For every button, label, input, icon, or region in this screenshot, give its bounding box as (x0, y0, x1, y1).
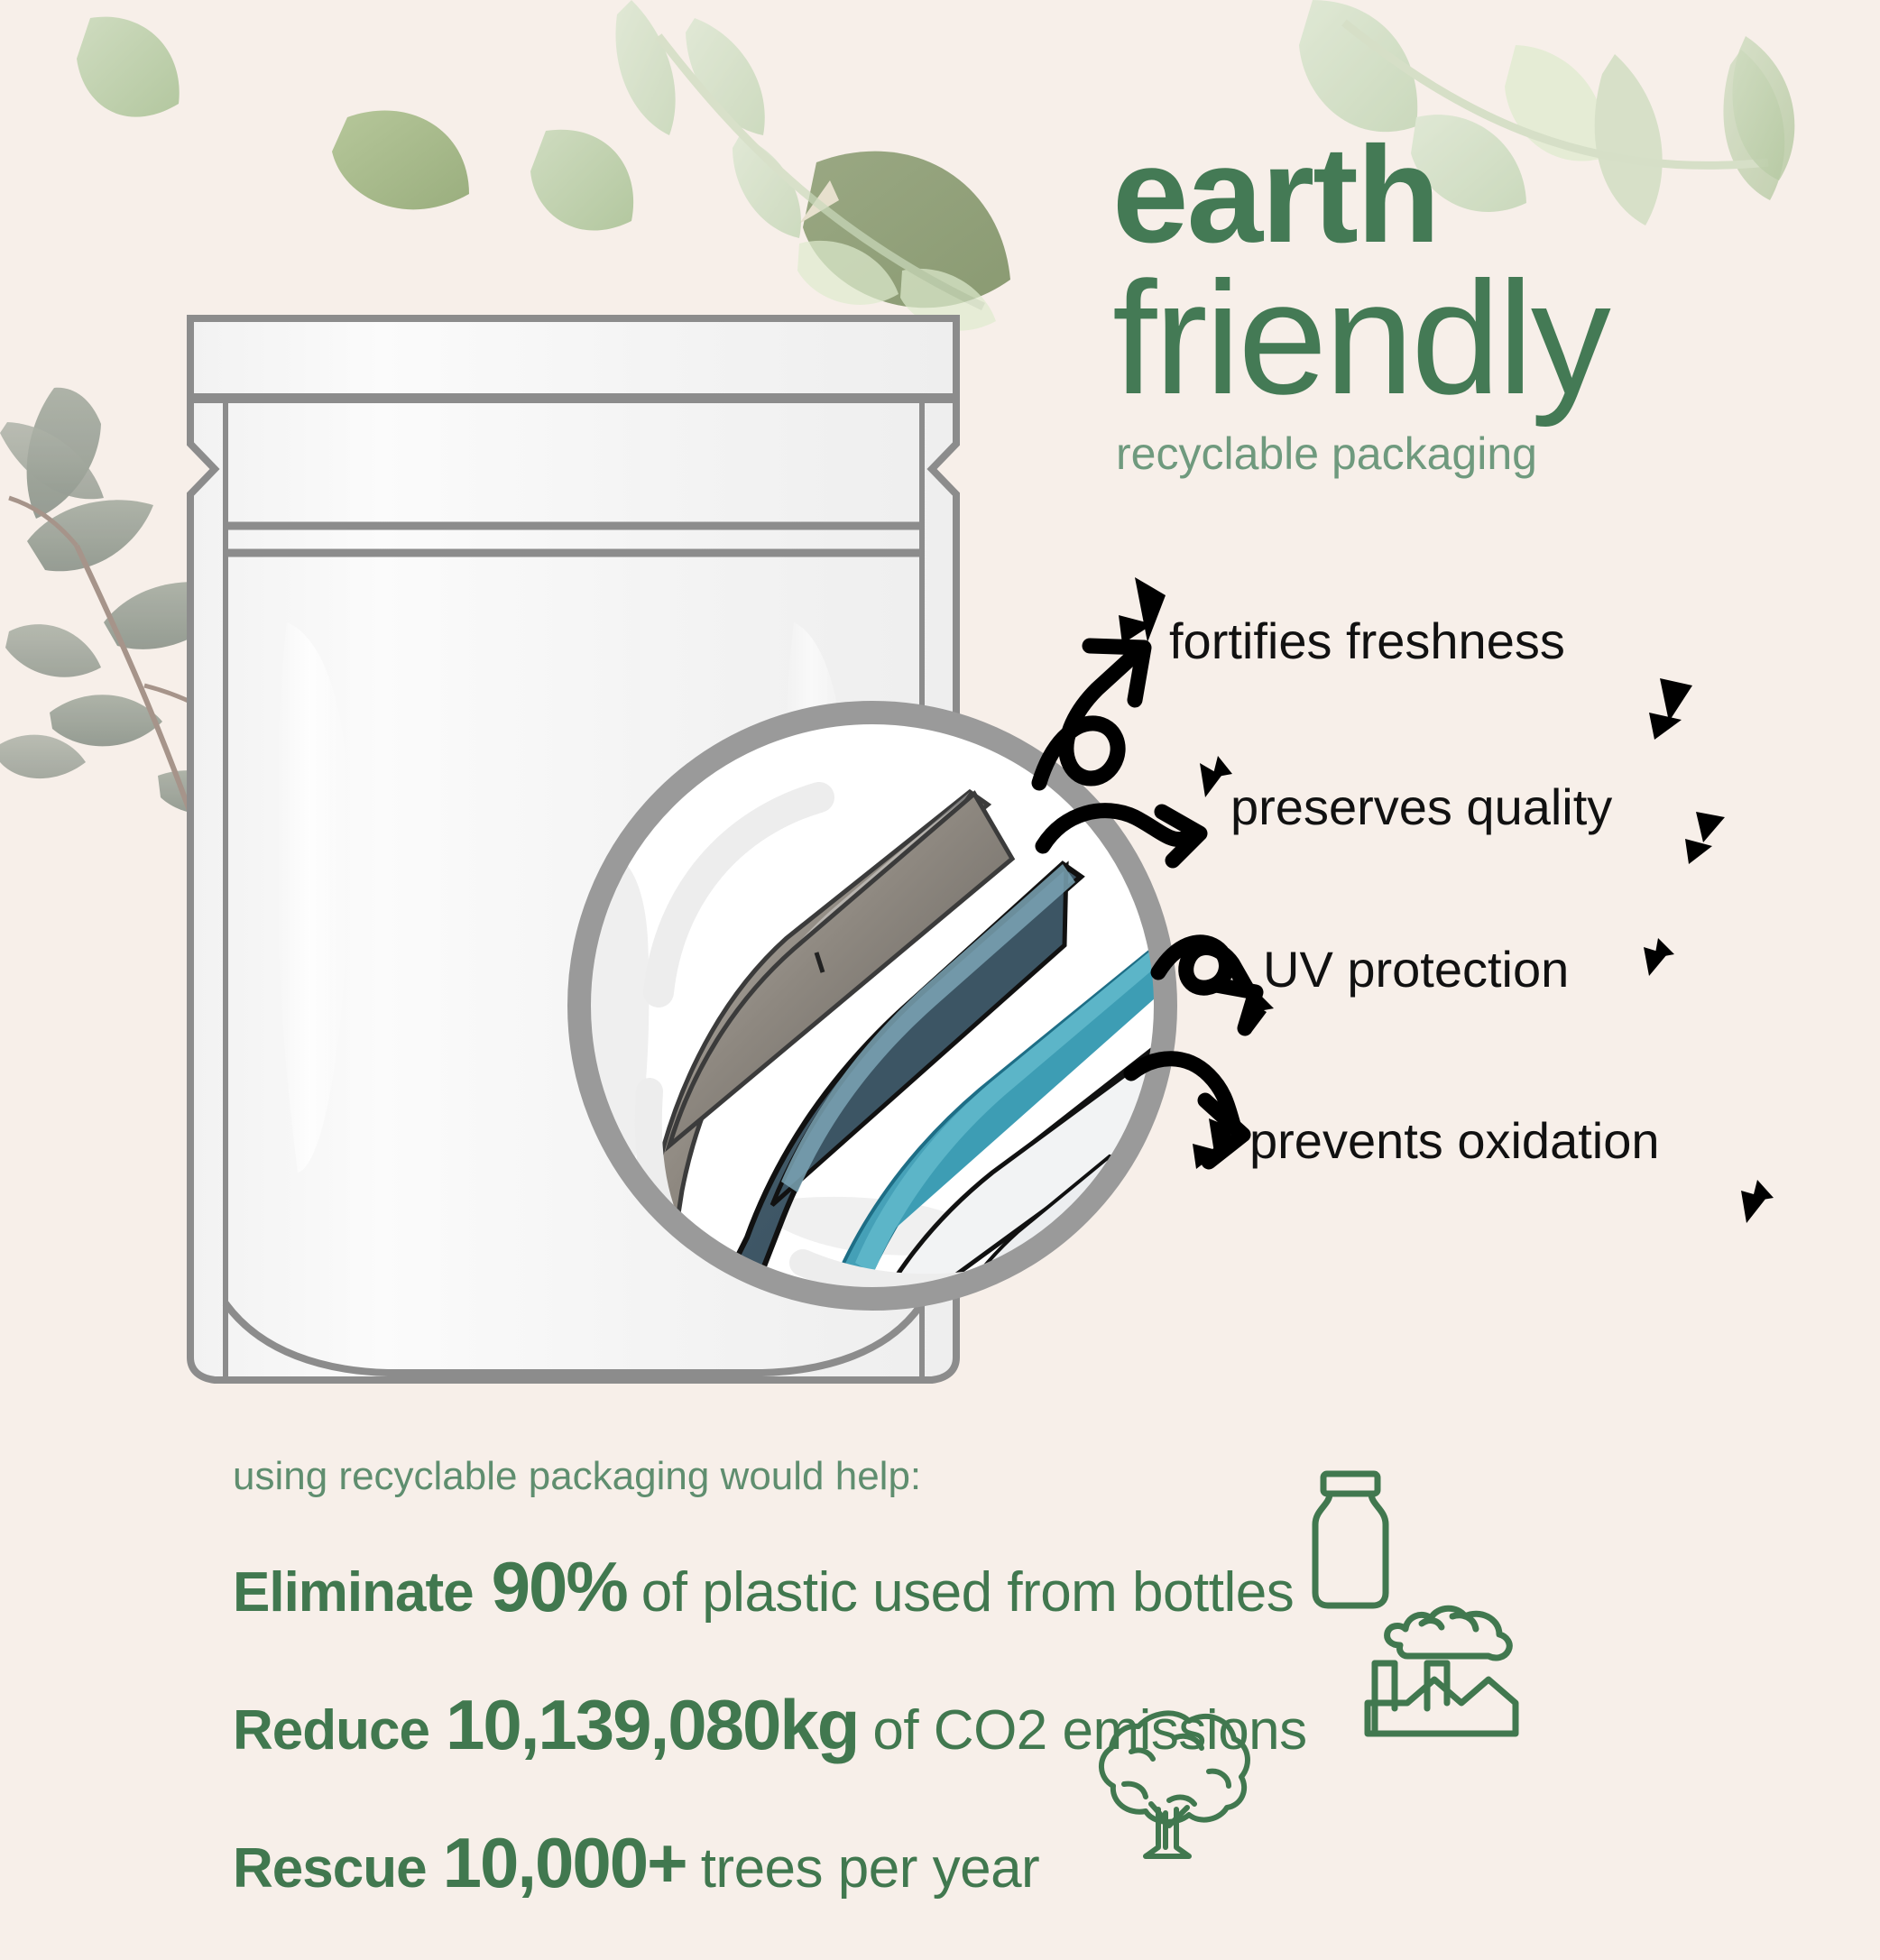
headline-subtitle: recyclable packaging (1116, 429, 1852, 479)
bottle-icon (1292, 1468, 1409, 1613)
infographic-canvas: earth friendly recyclable packaging fort… (0, 0, 1880, 1881)
headline-line-friendly: friendly (1112, 256, 1852, 420)
magnifier-circle (568, 704, 1207, 1407)
factory-icon (1344, 1597, 1525, 1750)
feature-label-preserves-quality: preserves quality (1230, 778, 1612, 836)
stat-tail: trees per year (701, 1836, 1040, 1900)
stat-tail: of plastic used from bottles (641, 1560, 1294, 1624)
stat-value: 10,000+ (427, 1822, 701, 1904)
stat-row-rescue: Rescue 10,000+ trees per year (233, 1822, 1586, 1904)
feature-label-uv-protection: UV protection (1263, 940, 1569, 998)
stat-value: 90% (474, 1546, 641, 1628)
headline-line-earth: earth (1112, 126, 1852, 263)
headline-block: earth friendly recyclable packaging (1112, 126, 1852, 479)
stat-verb: Rescue (233, 1836, 427, 1900)
tree-icon (1075, 1694, 1256, 1865)
feature-label-prevents-oxidation: prevents oxidation (1249, 1111, 1660, 1170)
stat-value: 10,139,080kg (429, 1684, 872, 1766)
stat-verb: Eliminate (233, 1560, 474, 1624)
feature-label-fortifies-freshness: fortifies freshness (1169, 612, 1565, 670)
stat-verb: Reduce (233, 1698, 429, 1762)
